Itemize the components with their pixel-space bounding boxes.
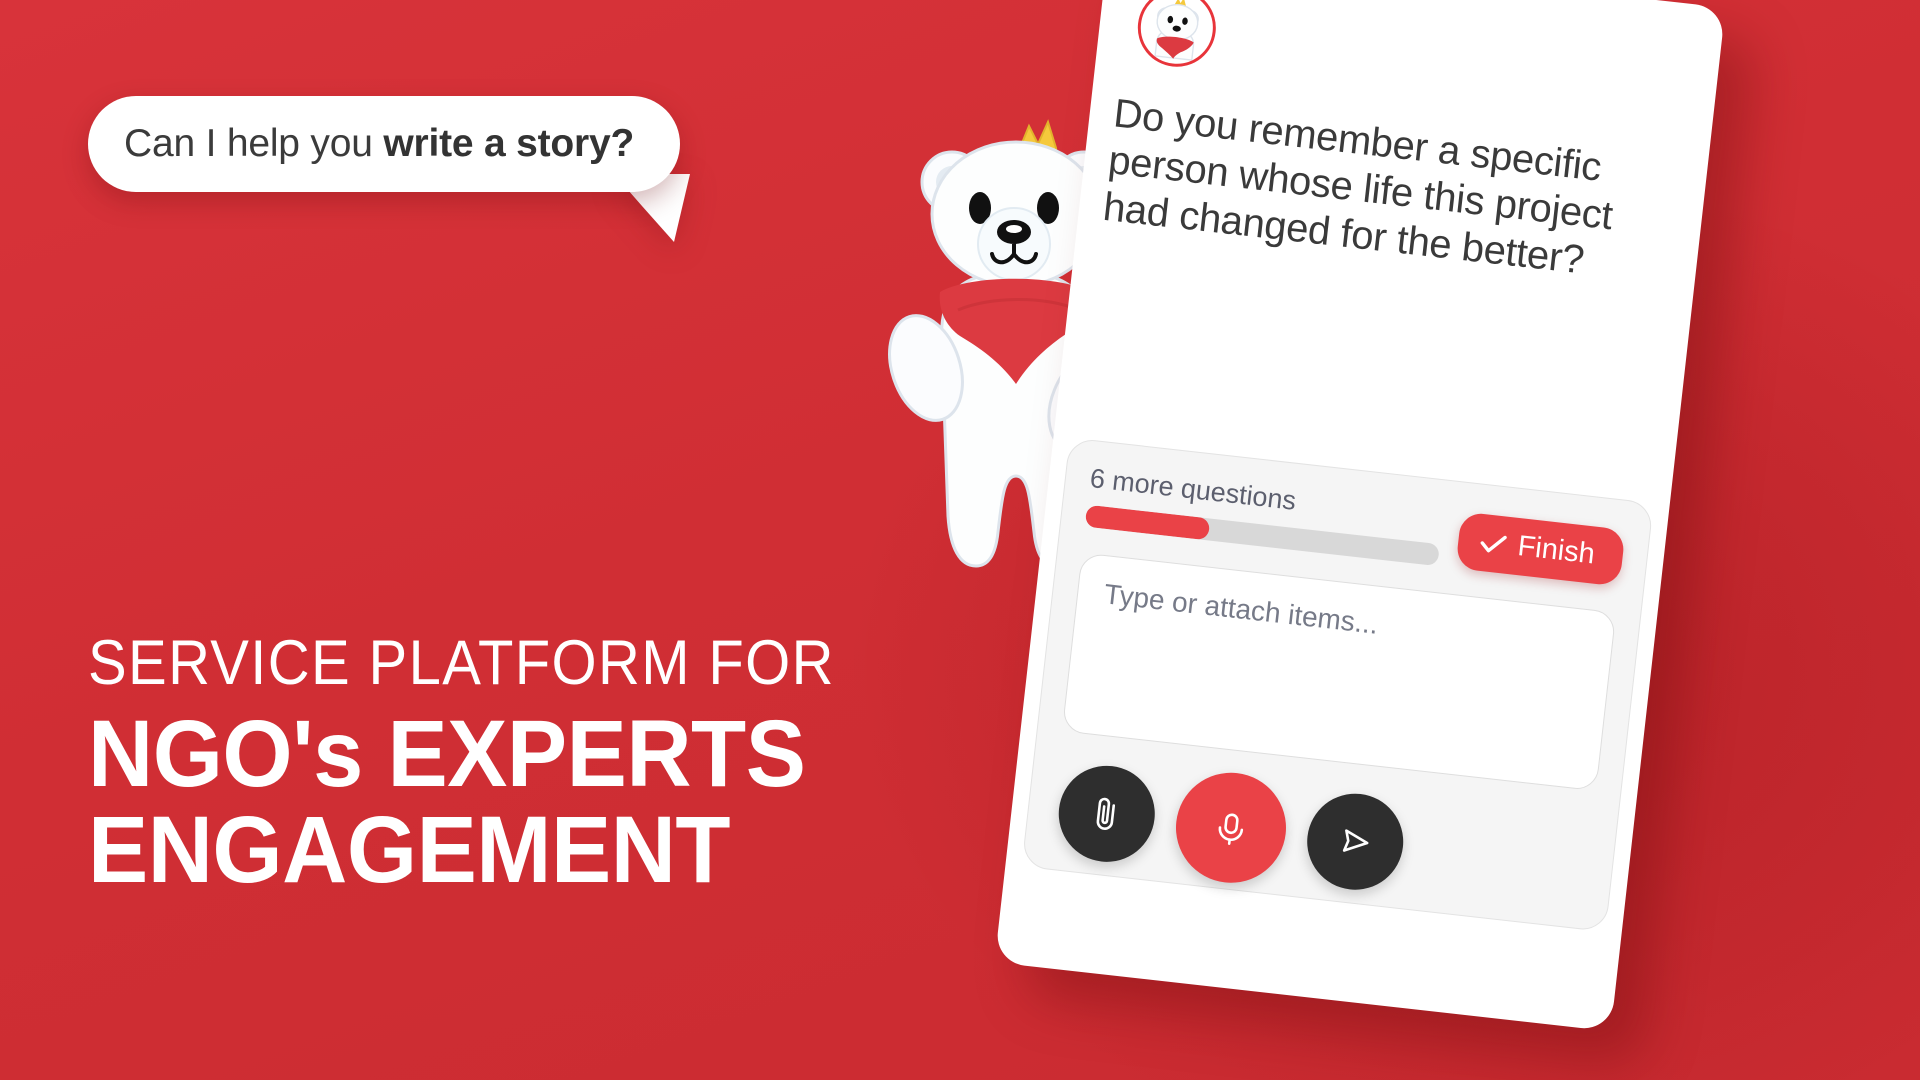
paperclip-icon [1085,792,1129,836]
message-input-placeholder: Type or attach items... [1102,578,1587,664]
question-text: Do you remember a specific person whose … [1101,90,1673,293]
voice-button[interactable] [1170,767,1292,889]
headline-line-3: ENGAGEMENT [88,803,859,899]
microphone-icon [1208,805,1254,851]
send-button[interactable] [1302,789,1408,895]
avatar[interactable] [1134,0,1220,71]
attach-button[interactable] [1054,761,1160,867]
chat-card: Do you remember a specific person whose … [995,0,1726,1031]
headline: SERVICE PLATFORM FOR NGO's EXPERTS ENGAG… [88,632,900,899]
check-icon [1479,532,1507,555]
send-icon [1333,820,1377,864]
speech-bubble: Can I help you write a story? [88,96,680,192]
composer-panel: 6 more questions Finish Type or attach i… [1021,437,1653,932]
speech-bubble-text: Can I help you write a story? [124,122,634,166]
speech-bubble-text-bold: write a story? [383,122,634,165]
message-input[interactable]: Type or attach items... [1062,552,1617,791]
progress-bar-fill [1085,504,1211,540]
headline-line-2: NGO's EXPERTS [88,707,859,803]
finish-button-label: Finish [1516,530,1597,571]
polar-bear-avatar-icon [1137,0,1217,68]
headline-line-1: SERVICE PLATFORM FOR [88,632,835,695]
speech-bubble-text-normal: Can I help you [124,122,383,165]
